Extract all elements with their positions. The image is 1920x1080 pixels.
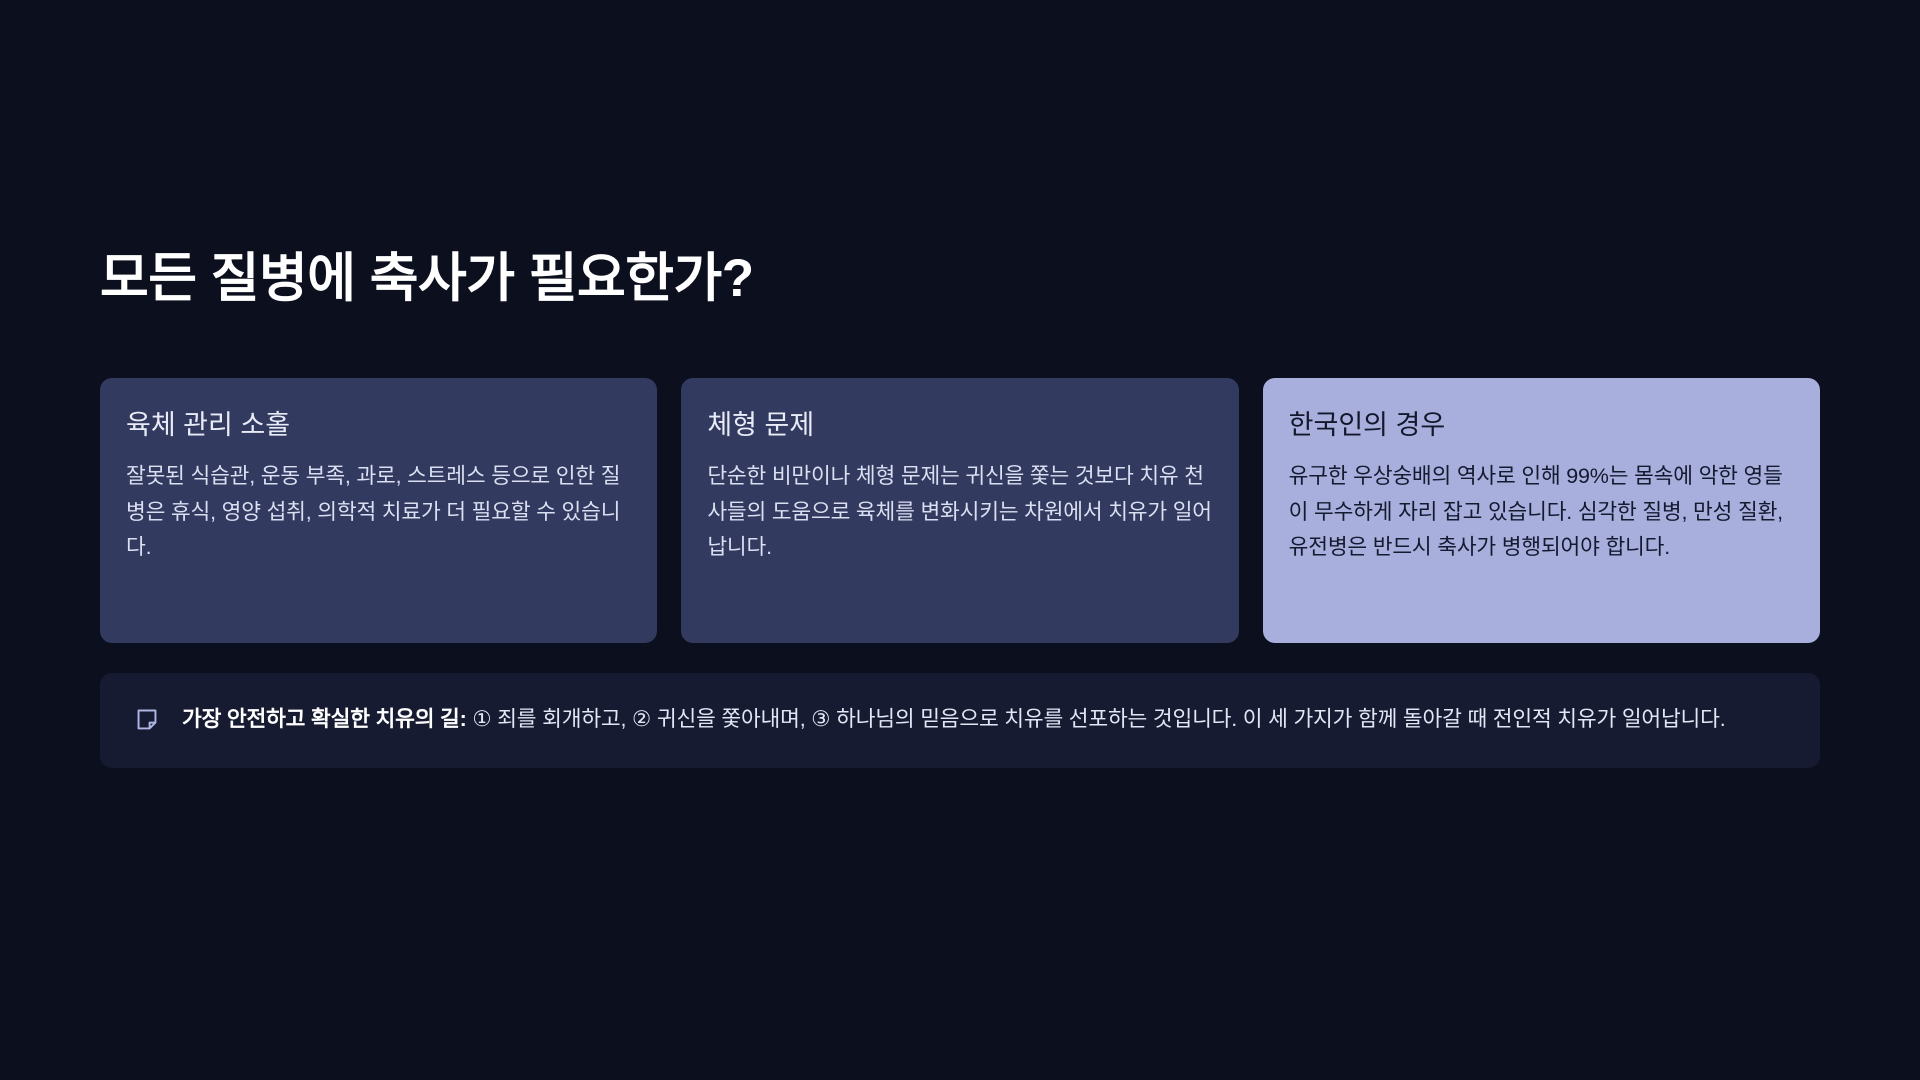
summary-callout-lead: 가장 안전하고 확실한 치유의 길:: [182, 707, 467, 731]
info-card-3-title: 한국인의 경우: [1289, 408, 1794, 443]
summary-callout-rest: ① 죄를 회개하고, ② 귀신을 쫓아내며, ③ 하나님의 믿음으로 치유를 선…: [467, 707, 1726, 731]
page-title: 모든 질병에 축사가 필요한가?: [100, 248, 754, 311]
slide-root: 모든 질병에 축사가 필요한가? 육체 관리 소홀 잘못된 식습관, 운동 부족…: [0, 0, 1920, 1080]
summary-callout-text: 가장 안전하고 확실한 치유의 길: ① 죄를 회개하고, ② 귀신을 쫓아내며…: [182, 701, 1726, 738]
info-card-3-body: 유구한 우상숭배의 역사로 인해 99%는 몸속에 악한 영들이 무수하게 자리…: [1289, 459, 1794, 565]
info-card-1-body: 잘못된 식습관, 운동 부족, 과로, 스트레스 등으로 인한 질병은 휴식, …: [126, 459, 631, 565]
info-card-3: 한국인의 경우 유구한 우상숭배의 역사로 인해 99%는 몸속에 악한 영들이…: [1263, 378, 1820, 643]
cards-row: 육체 관리 소홀 잘못된 식습관, 운동 부족, 과로, 스트레스 등으로 인한…: [100, 378, 1820, 643]
info-card-1: 육체 관리 소홀 잘못된 식습관, 운동 부족, 과로, 스트레스 등으로 인한…: [100, 378, 657, 643]
info-card-2: 체형 문제 단순한 비만이나 체형 문제는 귀신을 쫓는 것보다 치유 천사들의…: [681, 378, 1238, 643]
sticky-note-icon: [134, 707, 160, 733]
summary-callout: 가장 안전하고 확실한 치유의 길: ① 죄를 회개하고, ② 귀신을 쫓아내며…: [100, 673, 1820, 768]
info-card-1-title: 육체 관리 소홀: [126, 408, 631, 443]
info-card-2-body: 단순한 비만이나 체형 문제는 귀신을 쫓는 것보다 치유 천사들의 도움으로 …: [707, 459, 1212, 565]
info-card-2-title: 체형 문제: [707, 408, 1212, 443]
